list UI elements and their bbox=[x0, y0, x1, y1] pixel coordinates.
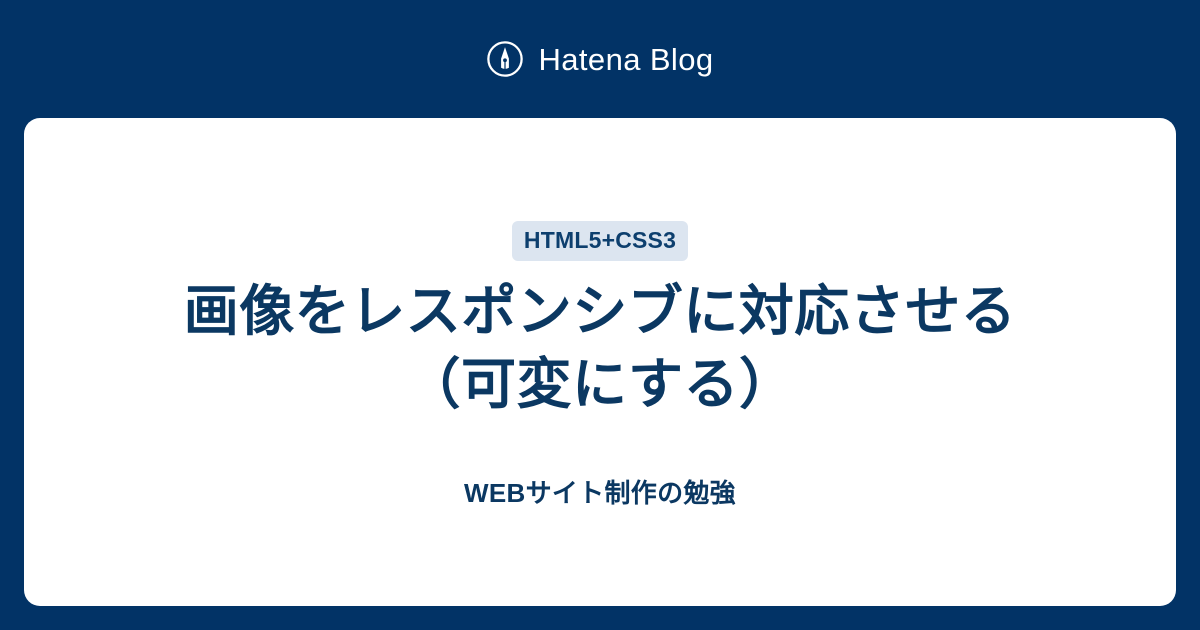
category-badge[interactable]: HTML5+CSS3 bbox=[512, 221, 688, 261]
entry-title-line-1: 画像をレスポンシブに対応させる bbox=[184, 275, 1017, 348]
brand-name: Hatena Blog bbox=[538, 44, 713, 75]
entry-title: 画像をレスポンシブに対応させる （可変にする） bbox=[184, 275, 1017, 421]
og-image-root: Hatena Blog HTML5+CSS3 画像をレスポンシブに対応させる （… bbox=[0, 0, 1200, 630]
entry-card: HTML5+CSS3 画像をレスポンシブに対応させる （可変にする） WEBサイ… bbox=[24, 118, 1176, 606]
pen-nib-in-circle-icon bbox=[486, 40, 524, 78]
entry-title-line-2: （可変にする） bbox=[184, 348, 1017, 421]
blog-title[interactable]: WEBサイト制作の勉強 bbox=[464, 477, 736, 511]
brand-lockup[interactable]: Hatena Blog bbox=[486, 40, 713, 78]
brand-header: Hatena Blog bbox=[0, 0, 1200, 118]
entry-card-inner: HTML5+CSS3 画像をレスポンシブに対応させる （可変にする） WEBサイ… bbox=[24, 118, 1176, 511]
